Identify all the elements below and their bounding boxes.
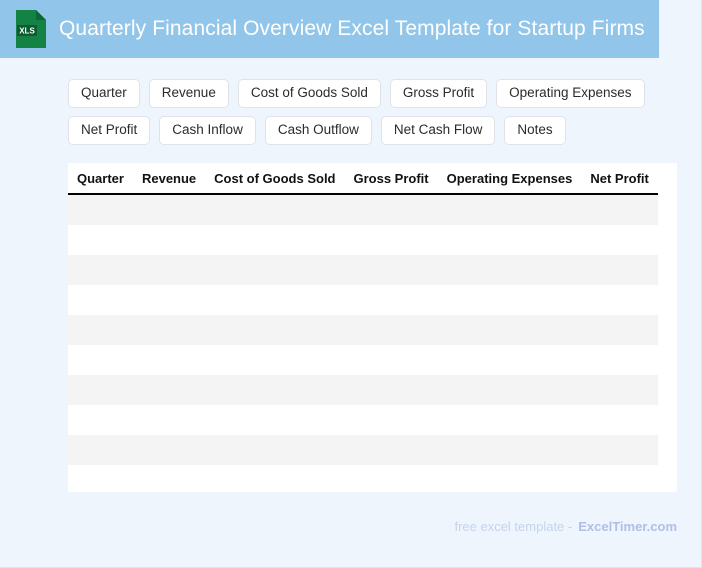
table-cell[interactable] xyxy=(345,435,438,465)
table-cell[interactable] xyxy=(438,375,582,405)
table-cell[interactable] xyxy=(68,465,133,492)
table-cell[interactable] xyxy=(205,345,344,375)
table-cell[interactable] xyxy=(438,345,582,375)
column-tag-list: Quarter Revenue Cost of Goods Sold Gross… xyxy=(68,79,668,145)
footer: free excel template - ExcelTimer.com xyxy=(454,519,677,534)
table-cell[interactable] xyxy=(345,465,438,492)
table-row[interactable] xyxy=(68,225,658,255)
table-row[interactable] xyxy=(68,194,658,225)
table-cell[interactable] xyxy=(581,465,658,492)
table-cell[interactable] xyxy=(581,405,658,435)
table-cell[interactable] xyxy=(205,285,344,315)
column-tag-operating-expenses[interactable]: Operating Expenses xyxy=(496,79,644,108)
table-row[interactable] xyxy=(68,285,658,315)
table-cell[interactable] xyxy=(345,345,438,375)
table-cell[interactable] xyxy=(581,375,658,405)
table-row[interactable] xyxy=(68,375,658,405)
table-header-revenue[interactable]: Revenue xyxy=(133,163,205,194)
table-cell[interactable] xyxy=(345,225,438,255)
table-cell[interactable] xyxy=(345,405,438,435)
table-cell[interactable] xyxy=(438,465,582,492)
column-tag-revenue[interactable]: Revenue xyxy=(149,79,229,108)
table-header-cost-of-goods-sold[interactable]: Cost of Goods Sold xyxy=(205,163,344,194)
table-cell[interactable] xyxy=(133,345,205,375)
table-cell[interactable] xyxy=(133,225,205,255)
table-cell[interactable] xyxy=(438,435,582,465)
table-cell[interactable] xyxy=(68,285,133,315)
table-cell[interactable] xyxy=(345,255,438,285)
table-cell[interactable] xyxy=(581,315,658,345)
table-cell[interactable] xyxy=(68,255,133,285)
table-cell[interactable] xyxy=(581,435,658,465)
table-cell[interactable] xyxy=(581,345,658,375)
table-cell[interactable] xyxy=(205,194,344,225)
table-cell[interactable] xyxy=(68,194,133,225)
table-cell[interactable] xyxy=(581,225,658,255)
table-cell[interactable] xyxy=(205,255,344,285)
column-tag-quarter[interactable]: Quarter xyxy=(68,79,140,108)
table-body xyxy=(68,194,658,492)
table-cell[interactable] xyxy=(68,375,133,405)
table-cell[interactable] xyxy=(68,345,133,375)
table-row[interactable] xyxy=(68,465,658,492)
page-header-bar: XLS Quarterly Financial Overview Excel T… xyxy=(0,0,659,58)
column-tag-net-profit[interactable]: Net Profit xyxy=(68,116,150,145)
table-cell[interactable] xyxy=(133,285,205,315)
column-tag-notes[interactable]: Notes xyxy=(504,116,565,145)
footer-prefix-text: free excel template - xyxy=(454,519,572,534)
table-row[interactable] xyxy=(68,255,658,285)
table-cell[interactable] xyxy=(438,255,582,285)
table-cell[interactable] xyxy=(438,285,582,315)
table-header-operating-expenses[interactable]: Operating Expenses xyxy=(438,163,582,194)
table-header-gross-profit[interactable]: Gross Profit xyxy=(345,163,438,194)
table-cell[interactable] xyxy=(345,315,438,345)
table-cell[interactable] xyxy=(345,375,438,405)
footer-brand-link[interactable]: ExcelTimer.com xyxy=(578,519,677,534)
table-cell[interactable] xyxy=(438,194,582,225)
table-cell[interactable] xyxy=(133,465,205,492)
table-cell[interactable] xyxy=(205,465,344,492)
table-cell[interactable] xyxy=(205,315,344,345)
column-tag-gross-profit[interactable]: Gross Profit xyxy=(390,79,487,108)
table-cell[interactable] xyxy=(68,225,133,255)
svg-text:XLS: XLS xyxy=(19,27,35,36)
table-header-row: Quarter Revenue Cost of Goods Sold Gross… xyxy=(68,163,658,194)
table-cell[interactable] xyxy=(133,435,205,465)
page-title: Quarterly Financial Overview Excel Templ… xyxy=(59,17,645,41)
table-cell[interactable] xyxy=(68,435,133,465)
table-row[interactable] xyxy=(68,405,658,435)
column-tag-cash-outflow[interactable]: Cash Outflow xyxy=(265,116,372,145)
table-cell[interactable] xyxy=(438,405,582,435)
table-cell[interactable] xyxy=(133,315,205,345)
xls-file-icon: XLS xyxy=(16,10,46,48)
table-cell[interactable] xyxy=(68,315,133,345)
table-cell[interactable] xyxy=(205,225,344,255)
table-cell[interactable] xyxy=(133,255,205,285)
table-header-quarter[interactable]: Quarter xyxy=(68,163,133,194)
table-cell[interactable] xyxy=(68,405,133,435)
column-tag-cash-inflow[interactable]: Cash Inflow xyxy=(159,116,256,145)
table-head: Quarter Revenue Cost of Goods Sold Gross… xyxy=(68,163,658,194)
table-cell[interactable] xyxy=(438,315,582,345)
table-row[interactable] xyxy=(68,345,658,375)
table-cell[interactable] xyxy=(438,225,582,255)
table-row[interactable] xyxy=(68,435,658,465)
table-cell[interactable] xyxy=(133,405,205,435)
table-cell[interactable] xyxy=(205,405,344,435)
table-cell[interactable] xyxy=(581,285,658,315)
table-row[interactable] xyxy=(68,315,658,345)
template-table: Quarter Revenue Cost of Goods Sold Gross… xyxy=(68,163,658,492)
table-cell[interactable] xyxy=(205,435,344,465)
table-cell[interactable] xyxy=(345,194,438,225)
table-cell[interactable] xyxy=(133,375,205,405)
table-cell[interactable] xyxy=(205,375,344,405)
table-cell[interactable] xyxy=(345,285,438,315)
table-cell[interactable] xyxy=(581,255,658,285)
column-tag-net-cash-flow[interactable]: Net Cash Flow xyxy=(381,116,496,145)
template-table-container[interactable]: Quarter Revenue Cost of Goods Sold Gross… xyxy=(68,163,677,492)
table-cell[interactable] xyxy=(133,194,205,225)
table-header-net-profit[interactable]: Net Profit xyxy=(581,163,658,194)
table-cell[interactable] xyxy=(581,194,658,225)
column-tag-cost-of-goods-sold[interactable]: Cost of Goods Sold xyxy=(238,79,381,108)
